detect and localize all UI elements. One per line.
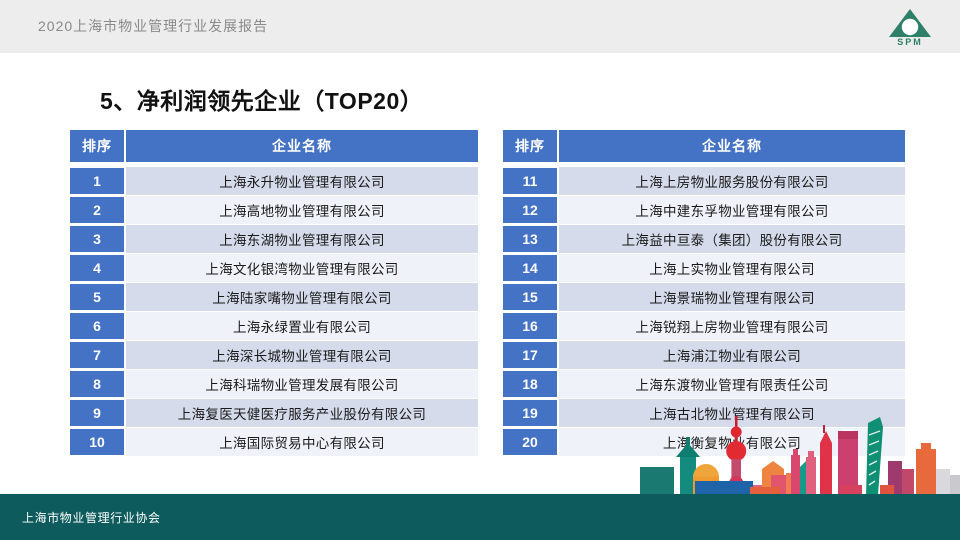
spm-triangle-icon — [886, 7, 934, 39]
gap-cell — [503, 163, 559, 166]
header-gap — [503, 163, 905, 166]
cell-company: 上海益中亘泰（集团）股份有限公司 — [559, 225, 905, 253]
cell-rank: 17 — [503, 341, 559, 369]
table-header-right: 排序 企业名称 — [503, 130, 905, 162]
shanghai-skyline-icon — [640, 415, 960, 495]
cell-company: 上海陆家嘴物业管理有限公司 — [126, 283, 478, 311]
cell-company: 上海永绿置业有限公司 — [126, 312, 478, 340]
cell-rank: 2 — [70, 196, 126, 224]
table-row: 3上海东湖物业管理有限公司 — [70, 225, 478, 253]
cell-company: 上海永升物业管理有限公司 — [126, 167, 478, 195]
ranking-table-right: 排序 企业名称 11上海上房物业服务股份有限公司 12上海中建东孚物业管理有限公… — [503, 129, 905, 457]
spm-logo: SPM — [886, 7, 934, 49]
table-row: 5上海陆家嘴物业管理有限公司 — [70, 283, 478, 311]
cell-company: 上海锐翔上房物业管理有限公司 — [559, 312, 905, 340]
cell-company: 上海文化银湾物业管理有限公司 — [126, 254, 478, 282]
cell-rank: 1 — [70, 167, 126, 195]
gap-cell — [559, 163, 905, 166]
report-title: 2020上海市物业管理行业发展报告 — [38, 16, 268, 36]
table-header-row: 排序 企业名称 — [70, 130, 478, 162]
table-row: 16上海锐翔上房物业管理有限公司 — [503, 312, 905, 340]
table-header-row: 排序 企业名称 — [503, 130, 905, 162]
cell-company: 上海浦江物业有限公司 — [559, 341, 905, 369]
column-header-rank: 排序 — [70, 130, 126, 162]
table-row: 11上海上房物业服务股份有限公司 — [503, 167, 905, 195]
cell-company: 上海高地物业管理有限公司 — [126, 196, 478, 224]
table-row: 15上海景瑞物业管理有限公司 — [503, 283, 905, 311]
cell-company: 上海科瑞物业管理发展有限公司 — [126, 370, 478, 398]
cell-rank: 9 — [70, 399, 126, 427]
cell-rank: 15 — [503, 283, 559, 311]
table-row: 6上海永绿置业有限公司 — [70, 312, 478, 340]
table-header-left: 排序 企业名称 — [70, 130, 478, 162]
table-row: 7上海深长城物业管理有限公司 — [70, 341, 478, 369]
cell-rank: 7 — [70, 341, 126, 369]
table-row: 12上海中建东孚物业管理有限公司 — [503, 196, 905, 224]
table-row: 8上海科瑞物业管理发展有限公司 — [70, 370, 478, 398]
cell-rank: 10 — [70, 428, 126, 456]
cell-rank: 6 — [70, 312, 126, 340]
cell-rank: 18 — [503, 370, 559, 398]
cell-company: 上海东湖物业管理有限公司 — [126, 225, 478, 253]
table-row: 14上海上实物业管理有限公司 — [503, 254, 905, 282]
table-row: 10上海国际贸易中心有限公司 — [70, 428, 478, 456]
cell-rank: 4 — [70, 254, 126, 282]
cell-company: 上海国际贸易中心有限公司 — [126, 428, 478, 456]
table-row: 2上海高地物业管理有限公司 — [70, 196, 478, 224]
cell-rank: 20 — [503, 428, 559, 456]
footer-association-name: 上海市物业管理行业协会 — [22, 509, 161, 526]
spm-logo-text: SPM — [886, 37, 934, 47]
column-header-rank: 排序 — [503, 130, 559, 162]
ranking-table-left: 排序 企业名称 1上海永升物业管理有限公司 2上海高地物业管理有限公司 3上海东… — [70, 129, 478, 457]
cell-rank: 16 — [503, 312, 559, 340]
gap-cell — [126, 163, 478, 166]
header-gap — [70, 163, 478, 166]
table-row: 4上海文化银湾物业管理有限公司 — [70, 254, 478, 282]
cell-rank: 19 — [503, 399, 559, 427]
table-row: 13上海益中亘泰（集团）股份有限公司 — [503, 225, 905, 253]
cell-rank: 11 — [503, 167, 559, 195]
cell-rank: 5 — [70, 283, 126, 311]
cell-company: 上海景瑞物业管理有限公司 — [559, 283, 905, 311]
column-header-company: 企业名称 — [559, 130, 905, 162]
cell-company: 上海复医天健医疗服务产业股份有限公司 — [126, 399, 478, 427]
column-header-company: 企业名称 — [126, 130, 478, 162]
cell-company: 上海上房物业服务股份有限公司 — [559, 167, 905, 195]
cell-rank: 14 — [503, 254, 559, 282]
table-body-right: 11上海上房物业服务股份有限公司 12上海中建东孚物业管理有限公司 13上海益中… — [503, 163, 905, 456]
table-row: 1上海永升物业管理有限公司 — [70, 167, 478, 195]
cell-company: 上海中建东孚物业管理有限公司 — [559, 196, 905, 224]
cell-company: 上海上实物业管理有限公司 — [559, 254, 905, 282]
footer-band: 上海市物业管理行业协会 — [0, 494, 960, 540]
gap-cell — [70, 163, 126, 166]
cell-rank: 3 — [70, 225, 126, 253]
cell-company: 上海深长城物业管理有限公司 — [126, 341, 478, 369]
cell-rank: 8 — [70, 370, 126, 398]
cell-company: 上海东渡物业管理有限责任公司 — [559, 370, 905, 398]
cell-rank: 13 — [503, 225, 559, 253]
skyline-graphic — [640, 415, 960, 495]
table-row: 9上海复医天健医疗服务产业股份有限公司 — [70, 399, 478, 427]
page-title: 5、净利润领先企业（TOP20） — [100, 82, 423, 116]
table-row: 18上海东渡物业管理有限责任公司 — [503, 370, 905, 398]
table-body-left: 1上海永升物业管理有限公司 2上海高地物业管理有限公司 3上海东湖物业管理有限公… — [70, 163, 478, 456]
cell-rank: 12 — [503, 196, 559, 224]
table-row: 17上海浦江物业有限公司 — [503, 341, 905, 369]
